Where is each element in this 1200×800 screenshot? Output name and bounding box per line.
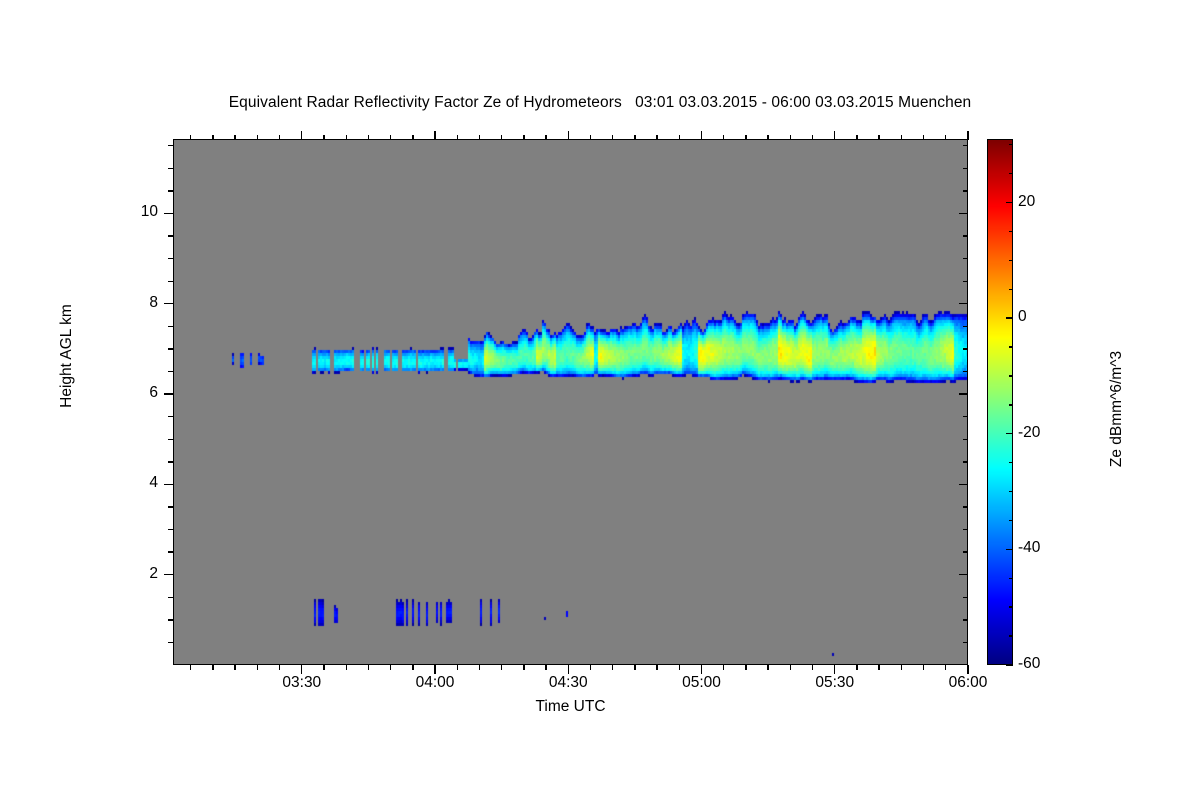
x-tick xyxy=(679,135,680,140)
y-tick xyxy=(168,145,173,146)
colorbar-tick-label-20: 20 xyxy=(1018,193,1035,211)
x-tick xyxy=(723,135,724,140)
colorbar-tick xyxy=(1006,317,1013,318)
colorbar-tick xyxy=(1009,173,1013,174)
y-tick xyxy=(168,642,173,643)
y-tick xyxy=(963,642,968,643)
y-tick xyxy=(164,213,173,214)
x-tick xyxy=(279,665,280,670)
colorbar-tick-label-m20: -20 xyxy=(1018,424,1040,442)
colorbar-tick-label-m60: -60 xyxy=(1018,655,1040,673)
y-tick-label-2: 2 xyxy=(98,565,158,583)
y-tick xyxy=(168,258,173,259)
x-tick xyxy=(301,131,302,140)
x-tick xyxy=(834,131,835,140)
y-tick-label-8: 8 xyxy=(98,294,158,312)
y-tick xyxy=(168,326,173,327)
x-tick xyxy=(923,135,924,140)
colorbar-tick-label-0: 0 xyxy=(1018,308,1027,326)
y-tick xyxy=(963,551,968,552)
x-tick xyxy=(790,665,791,670)
x-tick xyxy=(745,665,746,670)
y-tick xyxy=(963,506,968,507)
plot-area xyxy=(173,139,968,665)
x-tick-label-0500: 05:00 xyxy=(657,674,747,692)
x-tick xyxy=(967,131,968,140)
reflectivity-heatmap xyxy=(174,140,968,665)
y-tick xyxy=(168,235,173,236)
x-tick xyxy=(257,665,258,670)
y-tick xyxy=(963,190,968,191)
y-tick xyxy=(164,574,173,575)
x-tick-label-0430: 04:30 xyxy=(523,674,613,692)
x-tick xyxy=(568,131,569,140)
colorbar-tick xyxy=(1009,144,1013,145)
y-tick xyxy=(963,235,968,236)
x-tick xyxy=(612,135,613,140)
colorbar-tick xyxy=(1009,635,1013,636)
y-tick xyxy=(963,529,968,530)
x-tick xyxy=(234,665,235,670)
y-tick xyxy=(168,439,173,440)
y-tick xyxy=(963,619,968,620)
x-tick xyxy=(656,135,657,140)
y-tick xyxy=(959,303,968,304)
x-tick xyxy=(190,135,191,140)
x-tick xyxy=(767,665,768,670)
x-tick xyxy=(390,135,391,140)
colorbar-tick xyxy=(1009,606,1013,607)
y-tick xyxy=(168,348,173,349)
y-tick xyxy=(963,439,968,440)
colorbar-tick xyxy=(1009,260,1013,261)
x-tick xyxy=(945,135,946,140)
colorbar-gradient xyxy=(988,140,1013,665)
x-tick-label-0600: 06:00 xyxy=(923,674,1013,692)
y-tick xyxy=(164,303,173,304)
y-axis-label: Height AGL km xyxy=(58,226,76,486)
colorbar-tick xyxy=(1006,433,1013,434)
y-tick xyxy=(168,281,173,282)
x-tick xyxy=(590,665,591,670)
y-tick xyxy=(963,371,968,372)
y-tick xyxy=(168,597,173,598)
x-tick xyxy=(501,665,502,670)
x-tick xyxy=(634,665,635,670)
y-tick xyxy=(168,190,173,191)
y-tick xyxy=(963,258,968,259)
colorbar-tick xyxy=(1006,202,1013,203)
x-tick-label-0400: 04:00 xyxy=(390,674,480,692)
x-tick xyxy=(856,665,857,670)
x-tick xyxy=(434,131,435,140)
x-tick xyxy=(301,665,302,674)
y-tick xyxy=(959,213,968,214)
y-tick xyxy=(963,168,968,169)
y-tick xyxy=(168,551,173,552)
x-tick xyxy=(701,131,702,140)
y-tick xyxy=(963,326,968,327)
x-tick-label-0330: 03:30 xyxy=(257,674,347,692)
colorbar-tick xyxy=(1009,520,1013,521)
colorbar-tick xyxy=(1009,375,1013,376)
x-tick xyxy=(257,135,258,140)
colorbar-label: Ze dBmm^6/m^3 xyxy=(1108,279,1126,539)
y-tick xyxy=(164,484,173,485)
x-tick xyxy=(412,135,413,140)
y-tick-label-6: 6 xyxy=(98,384,158,402)
colorbar-tick xyxy=(1006,664,1013,665)
x-tick-label-0530: 05:30 xyxy=(790,674,880,692)
x-tick xyxy=(812,135,813,140)
x-tick xyxy=(790,135,791,140)
x-tick xyxy=(679,665,680,670)
x-tick xyxy=(523,135,524,140)
x-tick xyxy=(878,665,879,670)
colorbar-tick xyxy=(1009,289,1013,290)
x-tick xyxy=(479,665,480,670)
x-tick xyxy=(901,135,902,140)
x-tick xyxy=(767,135,768,140)
x-tick xyxy=(479,135,480,140)
x-tick xyxy=(590,135,591,140)
colorbar-tick xyxy=(1009,462,1013,463)
colorbar-tick xyxy=(1009,404,1013,405)
x-tick xyxy=(457,135,458,140)
y-tick xyxy=(164,393,173,394)
y-tick xyxy=(959,393,968,394)
x-tick xyxy=(545,665,546,670)
x-tick xyxy=(945,665,946,670)
x-tick xyxy=(501,135,502,140)
x-tick xyxy=(190,665,191,670)
x-tick xyxy=(323,135,324,140)
y-tick-label-10: 10 xyxy=(98,203,158,221)
x-tick xyxy=(523,665,524,670)
chart-title: Equivalent Radar Reflectivity Factor Ze … xyxy=(0,94,1200,112)
x-tick xyxy=(878,135,879,140)
y-tick xyxy=(168,619,173,620)
x-tick xyxy=(434,665,435,674)
x-axis-label: Time UTC xyxy=(173,698,968,716)
x-tick xyxy=(212,665,213,670)
y-tick xyxy=(168,529,173,530)
y-tick xyxy=(963,348,968,349)
colorbar-tick xyxy=(1009,578,1013,579)
x-tick xyxy=(412,665,413,670)
x-tick xyxy=(856,135,857,140)
x-tick xyxy=(701,665,702,674)
x-tick xyxy=(967,665,968,674)
y-tick xyxy=(963,416,968,417)
x-tick xyxy=(745,135,746,140)
x-tick xyxy=(212,135,213,140)
colorbar-tick xyxy=(1006,549,1013,550)
y-tick xyxy=(963,461,968,462)
y-tick xyxy=(168,416,173,417)
x-tick xyxy=(368,665,369,670)
y-tick xyxy=(959,484,968,485)
x-tick xyxy=(656,665,657,670)
x-tick xyxy=(834,665,835,674)
y-tick xyxy=(959,574,968,575)
x-tick xyxy=(346,135,347,140)
colorbar xyxy=(987,139,1013,665)
colorbar-tick xyxy=(1009,231,1013,232)
y-tick xyxy=(168,461,173,462)
y-tick xyxy=(168,506,173,507)
x-tick xyxy=(368,135,369,140)
x-tick xyxy=(323,665,324,670)
x-tick xyxy=(634,135,635,140)
colorbar-tick-label-m40: -40 xyxy=(1018,539,1040,557)
x-tick xyxy=(346,665,347,670)
x-tick xyxy=(234,135,235,140)
y-tick xyxy=(963,145,968,146)
x-tick xyxy=(545,135,546,140)
y-tick xyxy=(168,168,173,169)
y-tick-label-4: 4 xyxy=(98,474,158,492)
x-tick xyxy=(812,665,813,670)
x-tick xyxy=(457,665,458,670)
x-tick xyxy=(279,135,280,140)
colorbar-tick xyxy=(1009,491,1013,492)
x-tick xyxy=(901,665,902,670)
colorbar-tick xyxy=(1009,346,1013,347)
y-tick xyxy=(168,371,173,372)
y-tick xyxy=(963,597,968,598)
radar-reflectivity-figure: Equivalent Radar Reflectivity Factor Ze … xyxy=(0,0,1200,800)
x-tick xyxy=(568,665,569,674)
y-tick xyxy=(963,281,968,282)
x-tick xyxy=(923,665,924,670)
x-tick xyxy=(723,665,724,670)
x-tick xyxy=(612,665,613,670)
x-tick xyxy=(390,665,391,670)
